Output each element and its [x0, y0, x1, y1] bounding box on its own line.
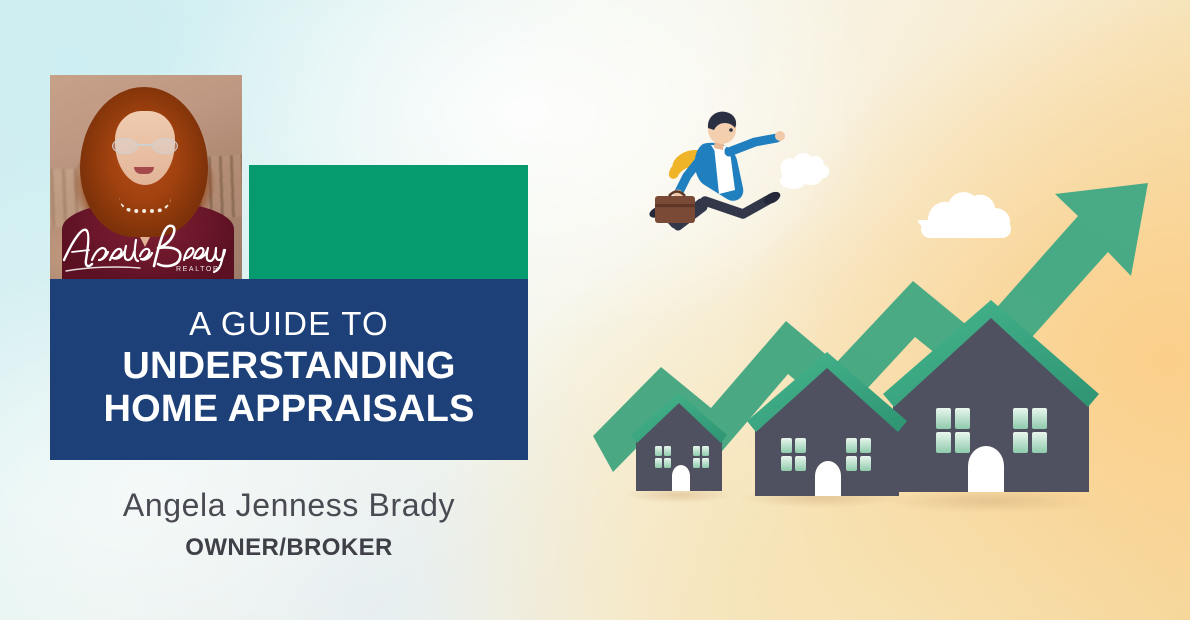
headline-line-1: A GUIDE TO	[189, 307, 389, 341]
eyeglasses-icon	[112, 138, 178, 154]
shadow-large-house	[883, 489, 1099, 513]
headline-line-3: HOME APPRAISALS	[103, 388, 474, 431]
cloud-large	[918, 192, 1011, 238]
agent-name: Angela Jenness Brady	[50, 487, 528, 525]
growth-illustration	[583, 78, 1190, 520]
avatar: REALTOR	[50, 75, 242, 280]
headline-line-2: UNDERSTANDING	[122, 345, 455, 388]
poster-canvas: REALTOR A GUIDE TO UNDERSTANDING HOME AP…	[0, 0, 1190, 620]
title-panel: A GUIDE TO UNDERSTANDING HOME APPRAISALS	[50, 279, 528, 460]
green-accent-block	[249, 165, 528, 279]
businessman	[648, 112, 785, 226]
agent-role: OWNER/BROKER	[50, 534, 528, 562]
agent-credit: Angela Jenness Brady OWNER/BROKER	[50, 487, 528, 562]
photo-pearl-necklace	[119, 197, 171, 213]
signature-subtitle: REALTOR	[176, 266, 220, 273]
signature-overlay: REALTOR	[58, 216, 234, 278]
cloud-small	[780, 153, 829, 189]
